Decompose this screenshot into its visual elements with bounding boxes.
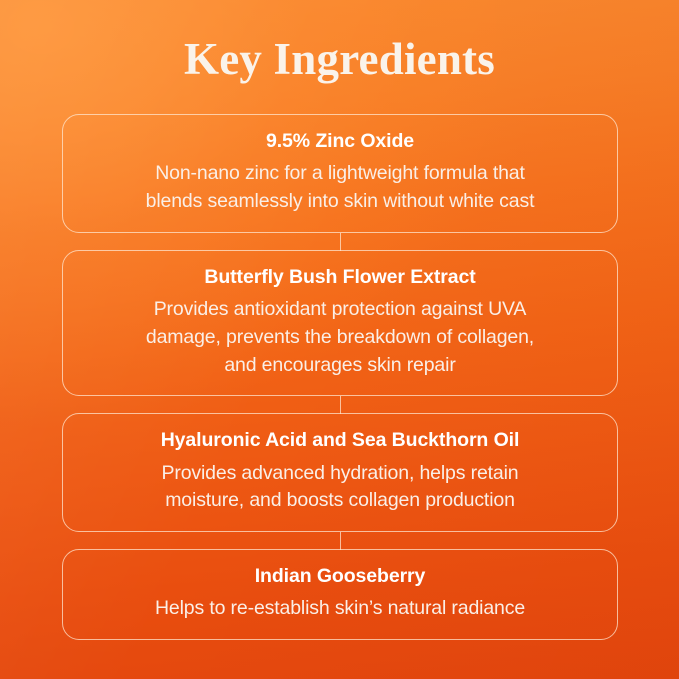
- ingredient-card-butterfly-bush-flower-extract: Butterfly Bush Flower Extract Provides a…: [62, 250, 618, 396]
- ingredient-card-indian-gooseberry: Indian Gooseberry Helps to re-establish …: [62, 549, 618, 640]
- description-line: moisture, and boosts collagen production: [85, 487, 595, 515]
- description-line: and encourages skin repair: [85, 352, 595, 380]
- ingredient-card-zinc-oxide: 9.5% Zinc Oxide Non-nano zinc for a ligh…: [62, 114, 618, 233]
- ingredient-description: Helps to re-establish skin’s natural rad…: [85, 595, 595, 623]
- ingredient-description: Provides antioxidant protection against …: [85, 296, 595, 379]
- key-ingredients-poster: Key Ingredients 9.5% Zinc Oxide Non-nano…: [0, 0, 679, 679]
- description-line: Provides advanced hydration, helps retai…: [85, 460, 595, 488]
- description-line: damage, prevents the breakdown of collag…: [85, 324, 595, 352]
- ingredient-description: Non-nano zinc for a lightweight formula …: [85, 160, 595, 215]
- description-line: blends seamlessly into skin without whit…: [85, 188, 595, 216]
- description-line: Helps to re-establish skin’s natural rad…: [85, 595, 595, 623]
- ingredient-title: Indian Gooseberry: [85, 564, 595, 588]
- ingredient-title: 9.5% Zinc Oxide: [85, 129, 595, 153]
- ingredient-card-list: 9.5% Zinc Oxide Non-nano zinc for a ligh…: [62, 114, 618, 640]
- description-line: Non-nano zinc for a lightweight formula …: [85, 160, 595, 188]
- ingredient-title: Butterfly Bush Flower Extract: [85, 265, 595, 289]
- description-line: Provides antioxidant protection against …: [85, 296, 595, 324]
- page-title: Key Ingredients: [0, 36, 679, 83]
- ingredient-card-hyaluronic-acid-sea-buckthorn-oil: Hyaluronic Acid and Sea Buckthorn Oil Pr…: [62, 413, 618, 532]
- ingredient-title: Hyaluronic Acid and Sea Buckthorn Oil: [85, 428, 595, 452]
- ingredient-description: Provides advanced hydration, helps retai…: [85, 460, 595, 515]
